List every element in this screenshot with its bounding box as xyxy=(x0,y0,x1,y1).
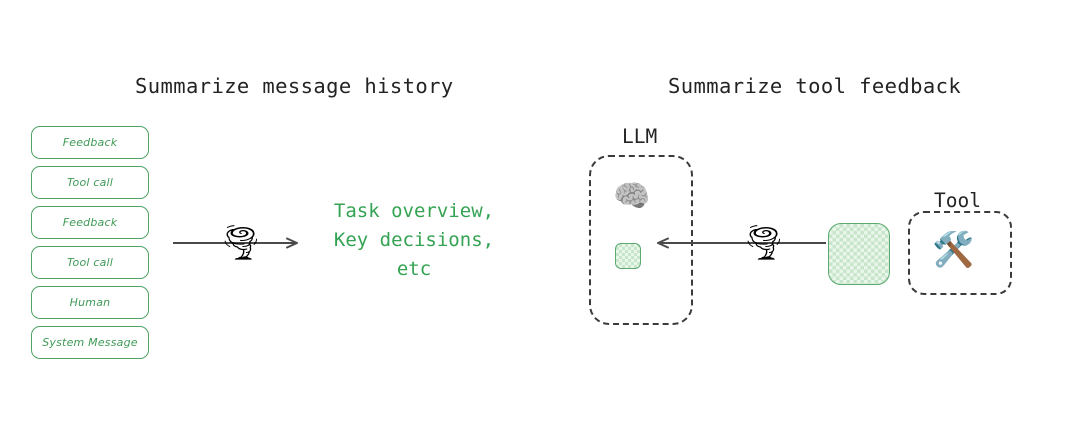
diagram-canvas: Summarize message history Feedback Tool … xyxy=(0,0,1080,433)
message-box-tool-call-2[interactable]: Tool call xyxy=(31,246,149,279)
message-box-feedback-2[interactable]: Feedback xyxy=(31,206,149,239)
arrow-left-tool-feedback xyxy=(648,235,828,251)
panel-title-summarize-message-history: Summarize message history xyxy=(135,74,454,98)
message-box-tool-call-1[interactable]: Tool call xyxy=(31,166,149,199)
message-box-feedback-1[interactable]: Feedback xyxy=(31,126,149,159)
summary-output-text: Task overview, Key decisions, etc xyxy=(316,197,512,284)
llm-label: LLM xyxy=(622,125,657,148)
tool-label: Tool xyxy=(934,189,981,212)
message-history-stack: Feedback Tool call Feedback Tool call Hu… xyxy=(31,126,149,359)
tool-feedback-block xyxy=(828,223,890,285)
tornado-icon-left: 🌪 xyxy=(219,226,262,260)
tornado-icon-right: 🌪 xyxy=(742,226,785,260)
brain-icon: 🧠 xyxy=(613,182,650,212)
message-box-system-message[interactable]: System Message xyxy=(31,326,149,359)
hammer-and-wrench-icon: 🛠️ xyxy=(932,233,974,267)
llm-context-block xyxy=(615,243,641,269)
message-box-human[interactable]: Human xyxy=(31,286,149,319)
panel-title-summarize-tool-feedback: Summarize tool feedback xyxy=(668,74,961,98)
